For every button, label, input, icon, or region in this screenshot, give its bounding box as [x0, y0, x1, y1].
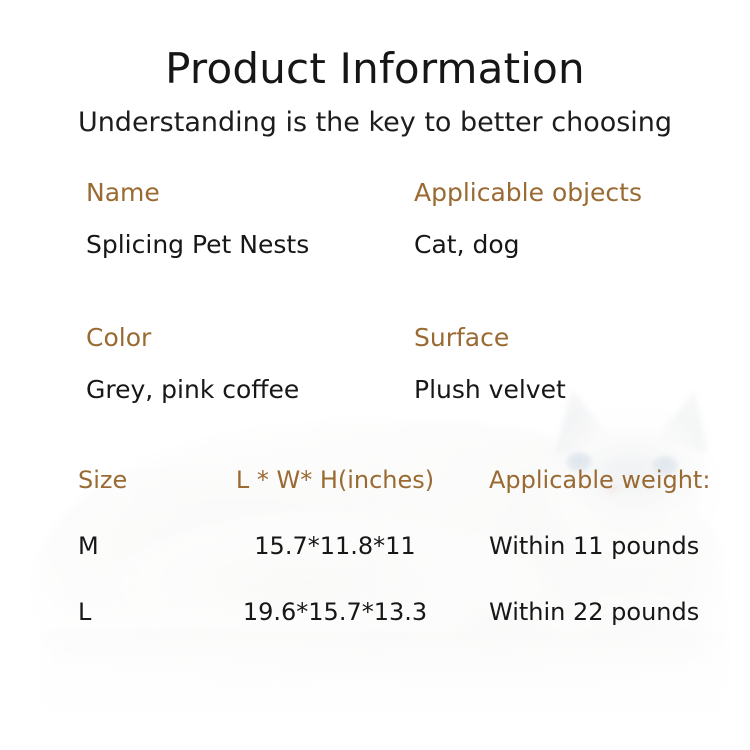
spec-value-surface: Plush velvet: [414, 375, 566, 405]
spec-value-name: Splicing Pet Nests: [86, 230, 309, 260]
content-layer: Product Information Understanding is the…: [0, 0, 750, 750]
spec-row: Name Splicing Pet Nests Applicable objec…: [0, 178, 750, 323]
size-cell-size: L: [78, 598, 208, 627]
spec-value-color: Grey, pink coffee: [86, 375, 299, 405]
spec-label-surface: Surface: [414, 323, 566, 353]
size-table-row: M 15.7*11.8*11 Within 11 pounds: [0, 532, 750, 598]
size-cell-size: M: [78, 532, 208, 561]
page-title: Product Information: [0, 46, 750, 91]
spec-row: Color Grey, pink coffee Surface Plush ve…: [0, 323, 750, 468]
specification-grid: Name Splicing Pet Nests Applicable objec…: [0, 178, 750, 468]
product-information-page: Product Information Understanding is the…: [0, 0, 750, 750]
size-cell-dimensions: 19.6*15.7*13.3: [205, 598, 465, 627]
spec-value-applicable-objects: Cat, dog: [414, 230, 642, 260]
size-cell-weight: Within 22 pounds: [489, 598, 739, 627]
size-header-size: Size: [78, 466, 208, 495]
spec-item-applicable-objects: Applicable objects Cat, dog: [414, 178, 642, 260]
spec-label-color: Color: [86, 323, 299, 353]
page-subtitle: Understanding is the key to better choos…: [0, 107, 750, 138]
size-table-header-row: Size L * W* H(inches) Applicable weight:: [0, 466, 750, 532]
spec-item-color: Color Grey, pink coffee: [86, 323, 299, 405]
spec-label-name: Name: [86, 178, 309, 208]
spec-label-applicable-objects: Applicable objects: [414, 178, 642, 208]
size-header-dimensions: L * W* H(inches): [205, 466, 465, 495]
spec-item-surface: Surface Plush velvet: [414, 323, 566, 405]
size-header-applicable-weight: Applicable weight:: [489, 466, 739, 495]
size-table: Size L * W* H(inches) Applicable weight:…: [0, 466, 750, 664]
size-table-row: L 19.6*15.7*13.3 Within 22 pounds: [0, 598, 750, 664]
size-cell-dimensions: 15.7*11.8*11: [205, 532, 465, 561]
size-cell-weight: Within 11 pounds: [489, 532, 739, 561]
spec-item-name: Name Splicing Pet Nests: [86, 178, 309, 260]
